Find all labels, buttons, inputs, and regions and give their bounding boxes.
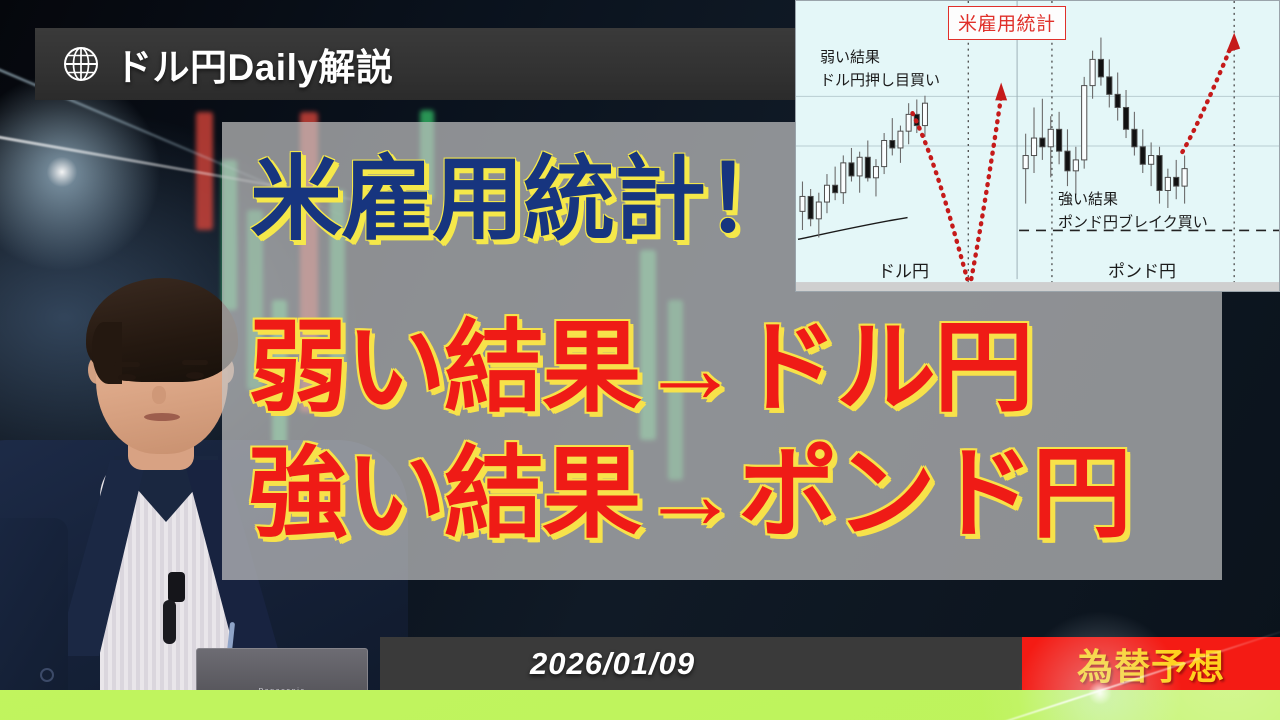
chart-pair-label-right: ポンド円	[1108, 257, 1176, 282]
footer-bar: 2026/01/09 為替予想	[380, 637, 1280, 690]
headline-navy: 米雇用統計！	[250, 154, 796, 246]
forecast-badge-label: 為替予想	[1077, 638, 1225, 690]
presenter-hair	[86, 278, 238, 382]
presenter-eye	[118, 374, 136, 381]
presenter-eye	[186, 372, 204, 379]
chart-annotation-left-2: ドル円押し目買い	[820, 69, 940, 90]
thumbnail-canvas: Panasonic ドル円Daily解説 米雇用統計！ 弱い結果→ドル円 強い結…	[0, 0, 1280, 720]
globe-icon	[61, 44, 101, 84]
chart-annotation-right-1: 強い結果	[1058, 188, 1118, 209]
chart-svg	[796, 1, 1279, 291]
presenter-mouth	[144, 413, 180, 421]
presenter-nose	[152, 386, 166, 404]
presenter-arm	[0, 518, 68, 690]
headline-red-2: 強い結果→ポンド円	[248, 444, 1130, 544]
lapel-mic-cable	[163, 600, 176, 644]
chart-annotation-left-1: 弱い結果	[820, 46, 880, 67]
chart-pair-label-left: ドル円	[878, 257, 929, 282]
date-label: 2026/01/09	[530, 646, 695, 682]
laptop-brand-label: Panasonic	[232, 688, 332, 690]
header-title: ドル円Daily解説	[115, 37, 393, 91]
chart-annotation-right-2: ポンド円ブレイク買い	[1058, 211, 1208, 232]
header-bar: ドル円Daily解説	[35, 28, 795, 100]
jacket-button	[40, 668, 54, 682]
presenter-brow	[114, 362, 140, 367]
chart-event-tag: 米雇用統計	[948, 6, 1066, 40]
headline-red-1: 弱い結果→ドル円	[248, 318, 1032, 418]
laptop	[196, 648, 368, 690]
candlestick-chart: 米雇用統計 弱い結果 ドル円押し目買い 強い結果 ポンド円ブレイク買い ドル円 …	[795, 0, 1280, 292]
lapel-mic	[168, 572, 185, 602]
presenter-brow	[182, 360, 208, 365]
